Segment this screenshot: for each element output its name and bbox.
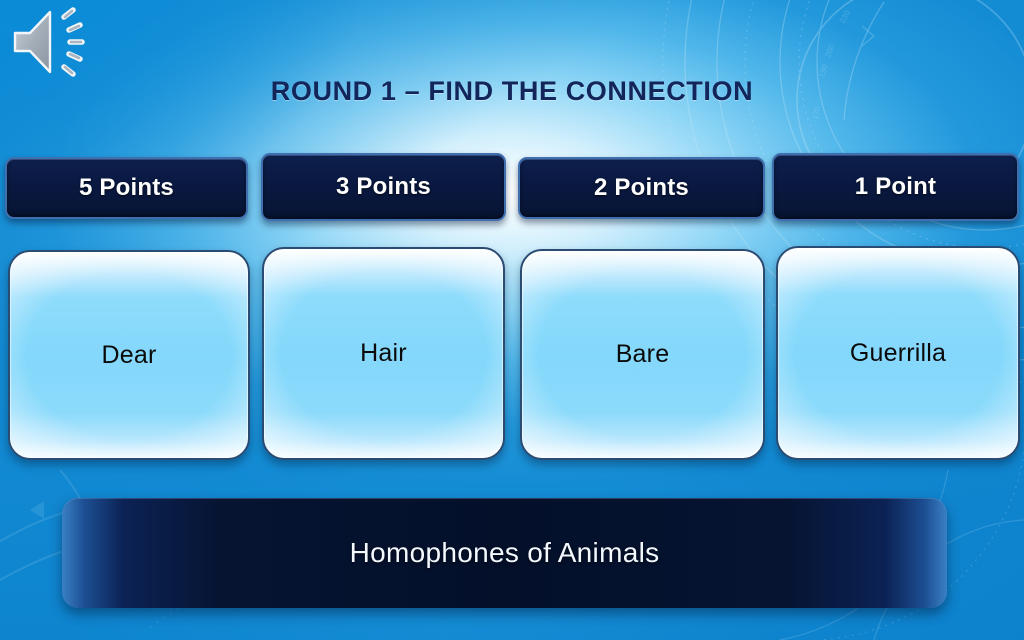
speaker-icon[interactable] [8,6,100,80]
points-button-label: 3 Points [336,173,431,201]
answer-card-label: Bare [616,340,670,369]
points-button-1[interactable]: 1 Point [772,153,1019,221]
answer-card-label: Dear [102,341,157,370]
points-button-3[interactable]: 3 Points [261,153,506,221]
points-button-label: 2 Points [594,174,689,202]
page-title: ROUND 1 – FIND THE CONNECTION [0,76,1024,107]
answer-card[interactable]: Bare [520,249,765,460]
points-button-label: 1 Point [855,173,936,201]
answer-card-label: Hair [360,339,407,368]
quiz-slide: 230 200 190 170 [0,0,1024,640]
points-button-5[interactable]: 5 Points [5,157,248,219]
answer-card-label: Guerrilla [850,339,946,368]
connection-answer-label: Homophones of Animals [350,537,660,569]
points-button-2[interactable]: 2 Points [518,157,765,219]
answer-card[interactable]: Dear [8,250,250,460]
answer-card[interactable]: Guerrilla [776,246,1020,460]
connection-answer-bar[interactable]: Homophones of Animals [62,498,947,608]
points-button-label: 5 Points [79,174,174,202]
answer-card[interactable]: Hair [262,247,505,460]
